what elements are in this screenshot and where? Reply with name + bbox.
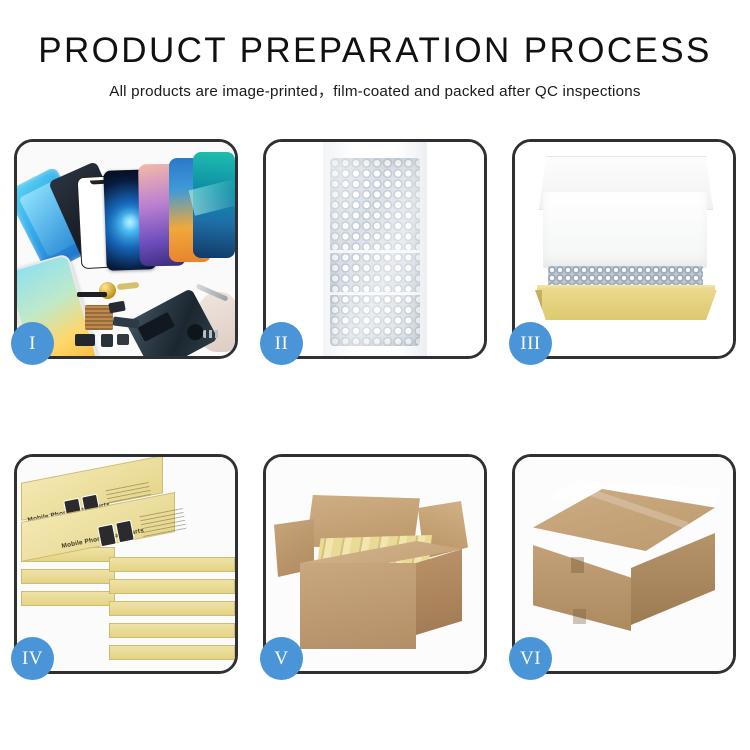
process-steps-grid: I II: [14, 139, 736, 674]
connector-part-1-graphic: [75, 334, 95, 346]
phones-and-parts-illustration: [17, 142, 235, 356]
panel-5-image: [266, 457, 484, 671]
step-badge-5: V: [260, 637, 303, 680]
stacked-box-right-1: [109, 557, 235, 572]
panel-4-image: Mobile Phone Spare Parts Mobile Phone Sp…: [17, 457, 235, 671]
step-badge-3: III: [509, 322, 552, 365]
page-subtitle: All products are image-printed，film-coat…: [0, 79, 750, 101]
header: PRODUCT PREPARATION PROCESS All products…: [0, 0, 750, 101]
box-stack: Mobile Phone Spare Parts Mobile Phone Sp…: [21, 469, 233, 665]
carton-tab-lower: [573, 609, 586, 624]
stacked-boxes-illustration: Mobile Phone Spare Parts Mobile Phone Sp…: [17, 457, 235, 671]
panel-step-6-sealed-carton: VI: [512, 454, 736, 674]
open-carton-illustration: [266, 457, 484, 671]
panel-step-1-products: I: [14, 139, 238, 359]
sealed-carton-illustration: [515, 457, 733, 671]
panel-1-image: [17, 142, 235, 356]
connector-part-3-graphic: [117, 334, 129, 345]
panel-3-image: [515, 142, 733, 356]
step-badge-6: VI: [509, 637, 552, 680]
kraft-box-base-graphic: [535, 290, 717, 320]
inner-box-illustration: [515, 142, 733, 356]
panel-6-image: [515, 457, 733, 671]
flex-cable-2-graphic: [117, 282, 140, 290]
step-badge-4: IV: [11, 637, 54, 680]
phone-screen-teal-graphic: [193, 152, 235, 258]
stacked-box-left-4: [21, 591, 115, 606]
flex-cable-1-graphic: [77, 292, 107, 297]
panel-step-5-open-carton: V: [263, 454, 487, 674]
panel-2-image: [266, 142, 484, 356]
carton-tab-upper: [571, 557, 584, 573]
bubble-wrap-seam-2: [330, 292, 420, 295]
panel-step-3-inner-box: III: [512, 139, 736, 359]
stacked-box-right-4: [109, 623, 235, 638]
screws-graphic: [203, 330, 221, 338]
stacked-box-left-3: [21, 569, 115, 584]
foam-sheet-graphic: [543, 192, 707, 268]
connector-part-2-graphic: [101, 334, 113, 347]
bubble-wrap-seam-1: [330, 250, 420, 253]
step-badge-1: I: [11, 322, 54, 365]
panel-step-2-bubble-wrap: II: [263, 139, 487, 359]
step-badge-2: II: [260, 322, 303, 365]
panel-step-4-stacked-boxes: Mobile Phone Spare Parts Mobile Phone Sp…: [14, 454, 238, 674]
carton-side-face: [416, 549, 462, 635]
infographic-page: PRODUCT PREPARATION PROCESS All products…: [0, 0, 750, 750]
stacked-box-right-3: [109, 601, 235, 616]
flex-cable-3-graphic: [113, 316, 140, 328]
camera-module-graphic: [108, 301, 125, 314]
page-title: PRODUCT PREPARATION PROCESS: [0, 33, 750, 70]
stacked-box-right-5: [109, 645, 235, 660]
carton-front-face: [300, 563, 416, 649]
bubble-wrap-illustration: [266, 142, 484, 356]
stacked-box-right-2: [109, 579, 235, 594]
